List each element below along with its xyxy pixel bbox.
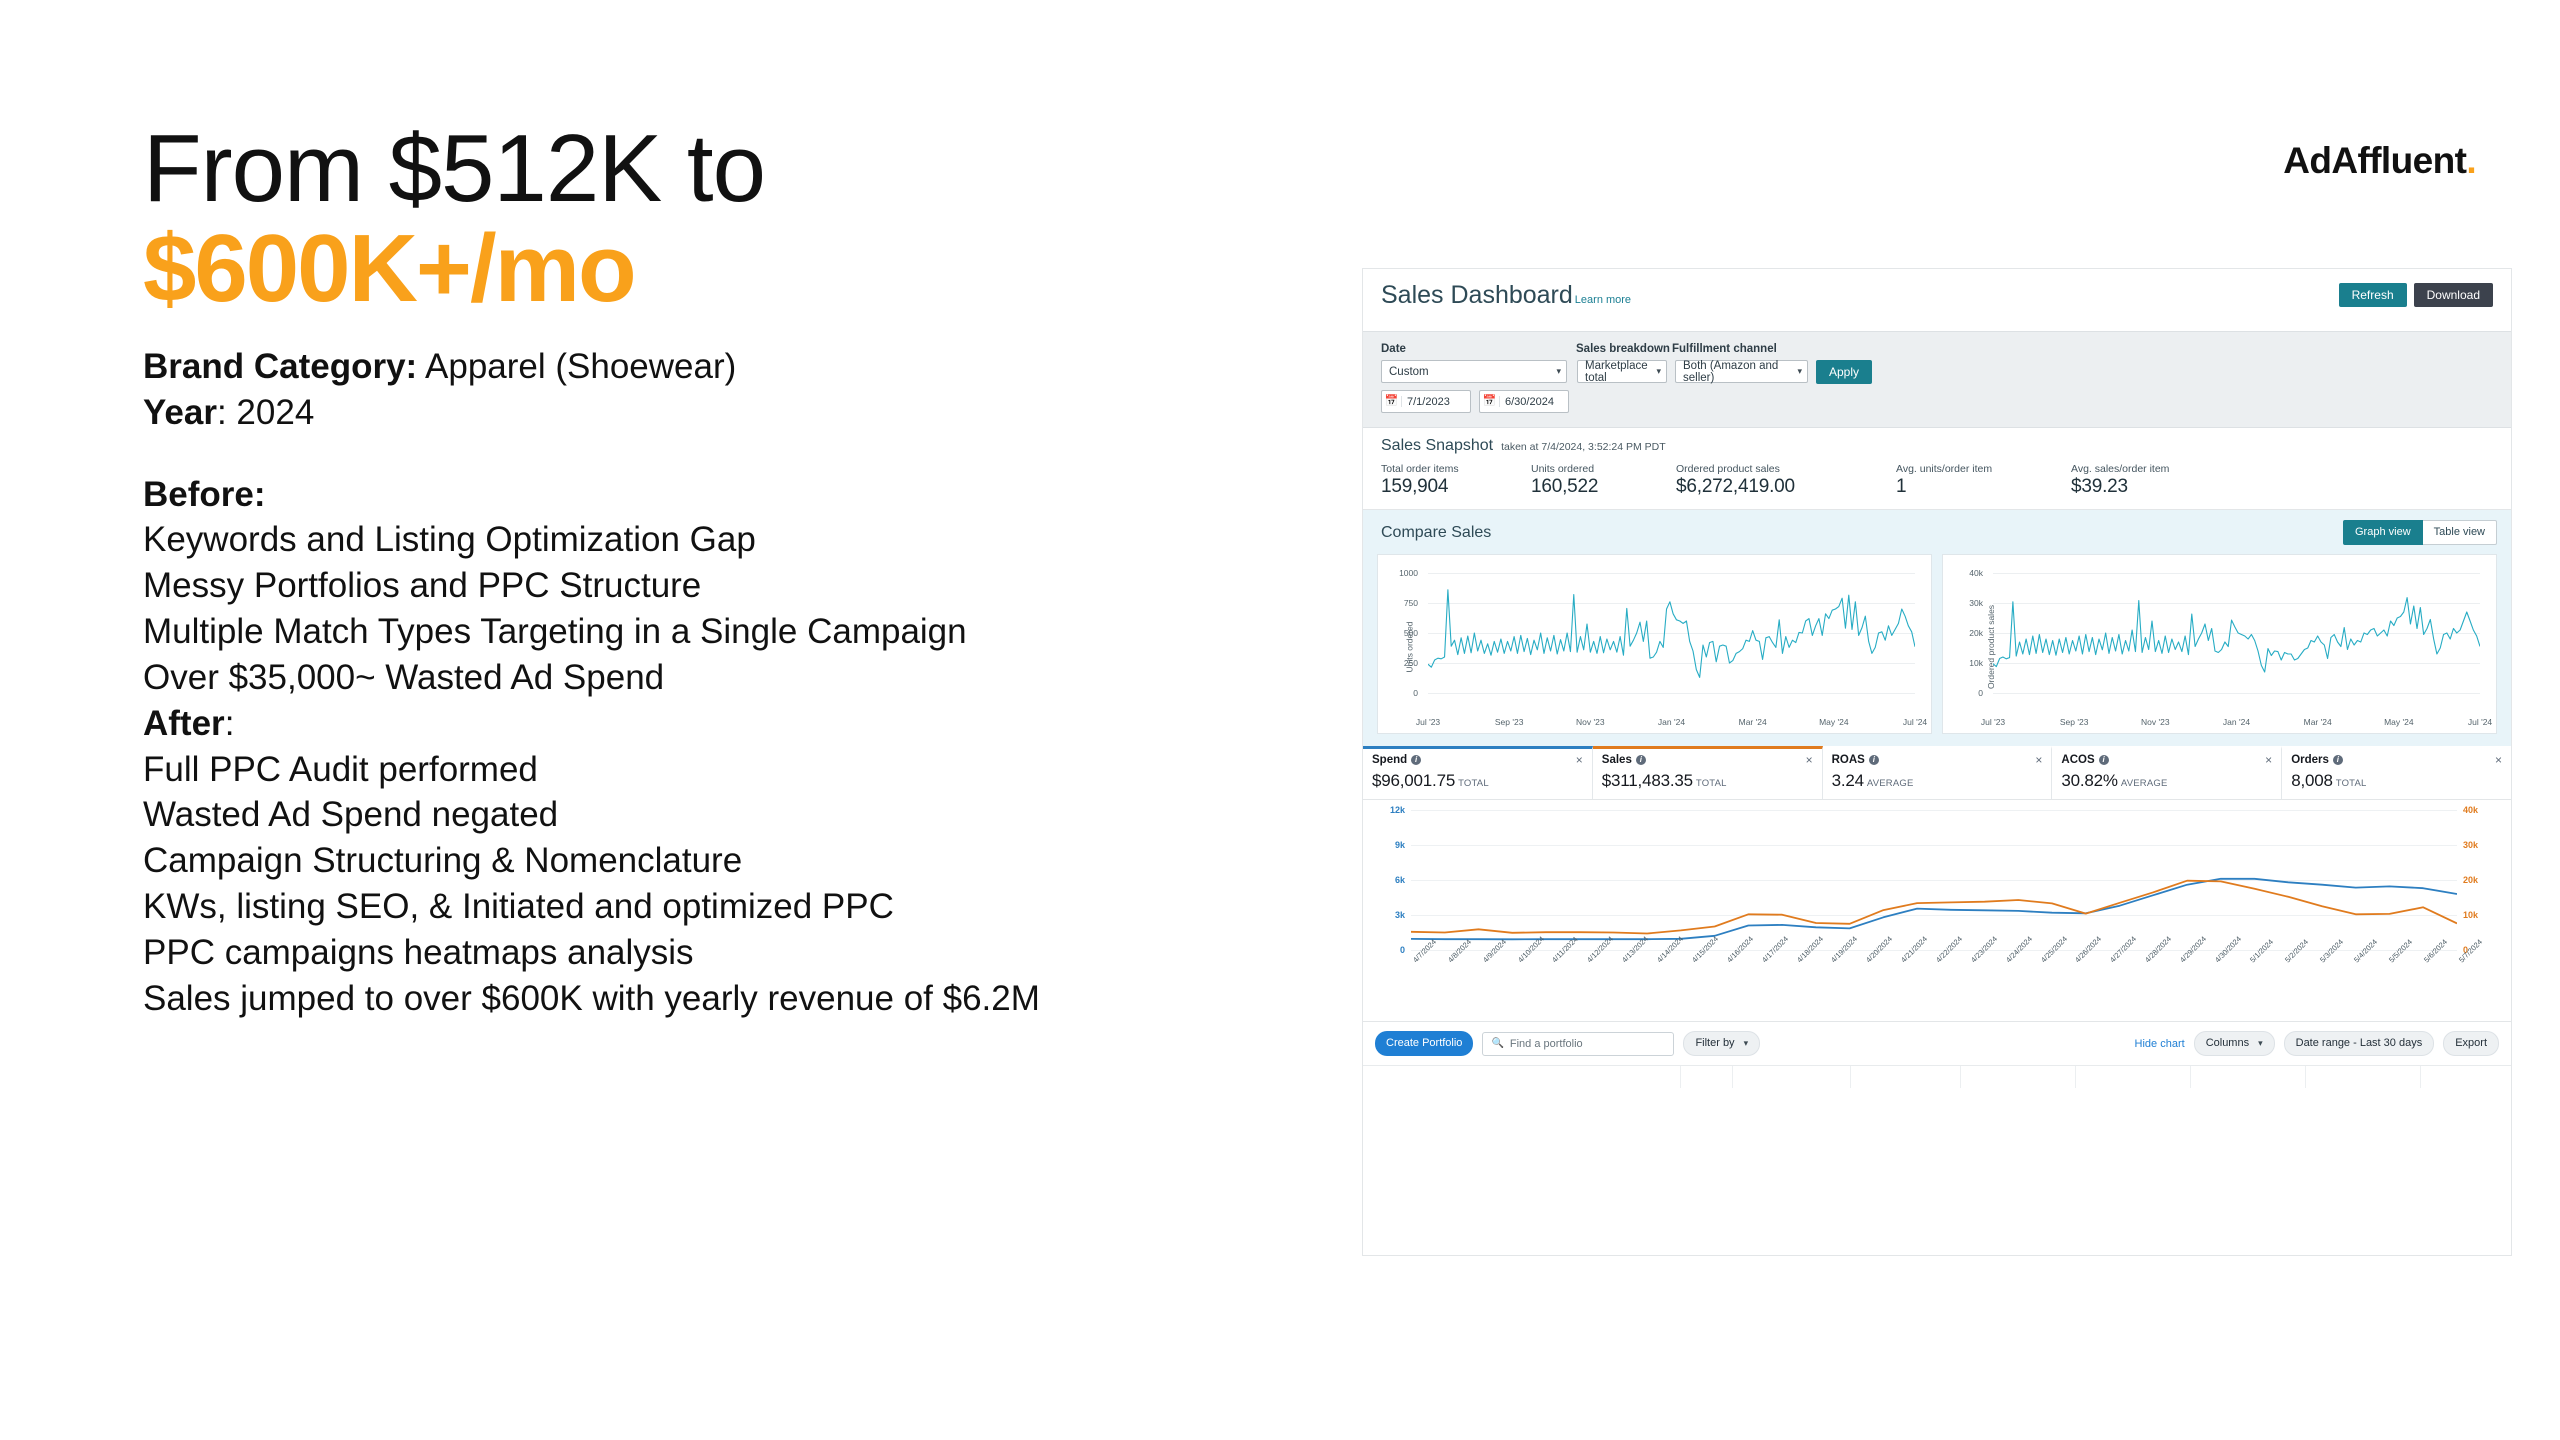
kpi-name-text: Orders <box>2291 754 2329 766</box>
date-range-inputs: 📅 7/1/2023 📅 6/30/2024 <box>1381 390 1569 413</box>
kpi-name-text: Sales <box>1602 754 1632 766</box>
after-item: KWs, listing SEO, & Initiated and optimi… <box>143 884 1353 930</box>
sales-dashboard-screenshot: Sales Dashboard Learn more Refresh Downl… <box>1362 268 2512 1256</box>
snapshot-metric-label: Ordered product sales <box>1676 463 1896 475</box>
before-item: Multiple Match Types Targeting in a Sing… <box>143 609 1353 655</box>
brand-category-label: Brand Category: <box>143 347 417 386</box>
kpi-name: ACOS i <box>2061 754 2108 766</box>
snapshot-metric-value: $6,272,419.00 <box>1676 476 1896 498</box>
compare-sales-section: Compare Sales Graph view Table view Unit… <box>1363 510 2511 746</box>
x-tick-label: Jul '24 <box>2468 717 2492 727</box>
year-value: : 2024 <box>217 393 314 432</box>
left-y-tick-label: 6k <box>1371 875 1405 885</box>
kpi-header: ACOS i × <box>2061 754 2272 766</box>
date-to-input[interactable]: 📅 6/30/2024 <box>1479 390 1569 413</box>
export-button[interactable]: Export <box>2443 1031 2499 1056</box>
learn-more-link[interactable]: Learn more <box>1575 295 1631 306</box>
toolbar-right-actions: Hide chart Columns ▾ Date range - Last 3… <box>2135 1031 2499 1056</box>
headline-line-1: From $512K to <box>143 120 1353 218</box>
snapshot-metric-label: Avg. sales/order item <box>2071 463 2241 475</box>
close-icon[interactable]: × <box>2035 754 2042 766</box>
after-item: Campaign Structuring & Nomenclature <box>143 838 1353 884</box>
hide-chart-link[interactable]: Hide chart <box>2135 1038 2185 1050</box>
chevron-down-icon: ▾ <box>1656 366 1661 377</box>
y-tick-label: 1000 <box>1394 568 1418 578</box>
chevron-down-icon: ▾ <box>1797 366 1802 377</box>
compare-sales-title: Compare Sales <box>1377 524 1491 542</box>
before-section-title: Before: <box>143 472 1353 518</box>
kpi-card-acos[interactable]: ACOS i × 30.82%AVERAGE <box>2052 746 2282 799</box>
view-tabs: Graph view Table view <box>2343 520 2497 545</box>
date-label: Date <box>1381 343 1576 355</box>
fulfillment-channel-value: Both (Amazon and seller) <box>1683 360 1793 384</box>
kpi-value: 8,008 <box>2291 771 2333 790</box>
kpi-name: ROAS i <box>1832 754 1879 766</box>
before-item: Keywords and Listing Optimization Gap <box>143 517 1353 563</box>
slide-content: From $512K to $600K+/mo Brand Category: … <box>143 120 1353 1022</box>
header-actions: Refresh Download <box>2339 283 2493 307</box>
snapshot-metric-label: Total order items <box>1381 463 1531 475</box>
x-tick-label: Jan '24 <box>1658 717 1685 727</box>
after-item: Full PPC Audit performed <box>143 747 1353 793</box>
y-tick-label: 30k <box>1959 598 1983 608</box>
filter-by-label: Filter by <box>1695 1037 1734 1050</box>
x-tick-label: Nov '23 <box>1576 717 1605 727</box>
kpi-name: Orders i <box>2291 754 2343 766</box>
kpi-value-row: 30.82%AVERAGE <box>2061 771 2272 791</box>
x-tick-label: Sep '23 <box>2060 717 2089 727</box>
info-icon[interactable]: i <box>1636 755 1646 765</box>
dashboard-title: Sales Dashboard Learn more <box>1381 283 1631 308</box>
dashboard-title-text: Sales Dashboard <box>1381 283 1573 308</box>
after-section-title: After: <box>143 701 1353 747</box>
snapshot-metric-value: 1 <box>1896 476 2071 498</box>
apply-button[interactable]: Apply <box>1816 360 1872 384</box>
date-to-value: 6/30/2024 <box>1500 396 1554 408</box>
units-ordered-line <box>1428 573 1915 693</box>
kpi-header: Orders i × <box>2291 754 2502 766</box>
portfolio-search-input[interactable]: 🔍 Find a portfolio <box>1482 1032 1674 1056</box>
year-row: Year: 2024 <box>143 390 1353 436</box>
kpi-value: $311,483.35 <box>1602 771 1693 790</box>
x-tick-label: Nov '23 <box>2141 717 2170 727</box>
calendar-icon: 📅 <box>1382 396 1402 407</box>
info-icon[interactable]: i <box>1411 755 1421 765</box>
left-y-tick-label: 3k <box>1371 910 1405 920</box>
columns-button[interactable]: Columns ▾ <box>2194 1031 2275 1056</box>
close-icon[interactable]: × <box>1576 754 1583 766</box>
left-y-tick-label: 12k <box>1371 805 1405 815</box>
kpi-name-text: ACOS <box>2061 754 2094 766</box>
ordered-product-sales-plot: Ordered product sales 010k20k30k40k Jul … <box>1951 565 2488 729</box>
x-tick-label: Sep '23 <box>1495 717 1524 727</box>
kpi-card-roas[interactable]: ROAS i × 3.24AVERAGE <box>1823 746 2053 799</box>
chart-ordered-product-sales: Ordered product sales 010k20k30k40k Jul … <box>1942 554 2497 734</box>
y-tick-label: 0 <box>1394 688 1418 698</box>
x-tick-label: Jan '24 <box>2223 717 2250 727</box>
portfolio-toolbar: Create Portfolio 🔍 Find a portfolio Filt… <box>1363 1022 2511 1066</box>
brand-category-value: Apparel (Shoewear) <box>417 347 736 386</box>
kpi-unit: TOTAL <box>2336 778 2367 789</box>
close-icon[interactable]: × <box>2265 754 2272 766</box>
y-tick-label: 500 <box>1394 628 1418 638</box>
kpi-unit: AVERAGE <box>1867 778 1914 789</box>
y-tick-label: 750 <box>1394 598 1418 608</box>
kpi-header: Sales i × <box>1602 754 1813 766</box>
brand-logo: AdAffluent. <box>2283 140 2476 182</box>
y-tick-label: 20k <box>1959 628 1983 638</box>
snapshot-metric-value: 159,904 <box>1381 476 1531 498</box>
sales-breakdown-select[interactable]: Marketplace total ▾ <box>1577 360 1667 383</box>
spacer <box>143 436 1353 472</box>
date-select[interactable]: Custom ▾ <box>1381 360 1567 383</box>
date-range-button[interactable]: Date range - Last 30 days <box>2284 1031 2435 1056</box>
chevron-down-icon: ▾ <box>2258 1038 2263 1049</box>
snapshot-metric: Avg. units/order item 1 <box>1896 463 2071 498</box>
sales-snapshot-metrics: Total order items 159,904 Units ordered … <box>1363 459 2511 510</box>
kpi-card-sales[interactable]: Sales i × $311,483.35TOTAL <box>1593 746 1823 799</box>
kpi-unit: TOTAL <box>1458 778 1489 789</box>
close-icon[interactable]: × <box>2495 754 2502 766</box>
x-tick-label: Mar '24 <box>2304 717 2332 727</box>
calendar-icon: 📅 <box>1480 396 1500 407</box>
left-y-tick-label: 9k <box>1371 840 1405 850</box>
info-icon[interactable]: i <box>1869 755 1879 765</box>
kpi-name: Sales i <box>1602 754 1646 766</box>
units-ordered-plot: Units ordered 02505007501000 Jul '23Sep … <box>1386 565 1923 729</box>
kpi-header: ROAS i × <box>1832 754 2043 766</box>
gridline <box>1428 693 1915 694</box>
snapshot-metric-label: Units ordered <box>1531 463 1676 475</box>
x-tick-label: May '24 <box>2384 717 2414 727</box>
info-icon[interactable]: i <box>2099 755 2109 765</box>
sales-breakdown-value: Marketplace total <box>1585 360 1652 384</box>
left-y-tick-label: 0 <box>1371 945 1405 955</box>
fulfillment-channel-label: Fulfillment channel <box>1672 343 1812 355</box>
sales-snapshot-title: Sales Snapshot <box>1381 437 1493 455</box>
fulfillment-channel-select[interactable]: Both (Amazon and seller) ▾ <box>1675 360 1808 383</box>
chevron-down-icon: ▾ <box>1556 366 1561 377</box>
snapshot-metric: Avg. sales/order item $39.23 <box>2071 463 2241 498</box>
year-label: Year <box>143 393 217 432</box>
compare-sales-header: Compare Sales Graph view Table view <box>1377 520 2497 545</box>
kpi-name-text: ROAS <box>1832 754 1865 766</box>
tab-graph-view[interactable]: Graph view <box>2343 520 2423 545</box>
after-item: Sales jumped to over $600K with yearly r… <box>143 976 1353 1022</box>
right-y-tick-label: 20k <box>2463 875 2503 885</box>
logo-text: AdAffluent <box>2283 140 2466 181</box>
refresh-button[interactable]: Refresh <box>2339 283 2407 307</box>
date-select-value: Custom <box>1389 366 1429 378</box>
y-tick-label: 10k <box>1959 658 1983 668</box>
after-item: PPC campaigns heatmaps analysis <box>143 930 1353 976</box>
columns-label: Columns <box>2206 1037 2249 1050</box>
kpi-value: $96,001.75 <box>1372 771 1455 790</box>
x-tick-label: Jul '23 <box>1981 717 2005 727</box>
kpi-value-row: $96,001.75TOTAL <box>1372 771 1583 791</box>
tab-table-view[interactable]: Table view <box>2423 520 2497 545</box>
chart-spend-vs-sales: 03k6k9k12k 010k20k30k40k 4/7/20244/8/202… <box>1363 800 2511 1022</box>
after-item: Wasted Ad Spend negated <box>143 792 1353 838</box>
snapshot-metric: Ordered product sales $6,272,419.00 <box>1676 463 1896 498</box>
page-title: From $512K to $600K+/mo <box>143 120 1353 318</box>
sales-snapshot-timestamp: taken at 7/4/2024, 3:52:24 PM PDT <box>1501 441 1666 453</box>
portfolio-search-placeholder: Find a portfolio <box>1510 1038 1583 1050</box>
brand-meta: Brand Category: Apparel (Shoewear) Year:… <box>143 344 1353 436</box>
before-item: Over $35,000~ Wasted Ad Spend <box>143 655 1353 701</box>
snapshot-metric-value: 160,522 <box>1531 476 1676 498</box>
after-colon: : <box>225 704 235 743</box>
headline-line-2: $600K+/mo <box>143 220 1353 318</box>
date-from-value: 7/1/2023 <box>1402 396 1450 408</box>
filter-controls: Custom ▾ 📅 7/1/2023 📅 6/30/2024 Marketpl… <box>1381 360 2493 413</box>
ordered-product-sales-line <box>1993 573 2480 693</box>
kpi-unit: TOTAL <box>1696 778 1727 789</box>
right-y-tick-label: 40k <box>2463 805 2503 815</box>
search-icon: 🔍 <box>1491 1038 1503 1049</box>
y-tick-label: 40k <box>1959 568 1983 578</box>
create-portfolio-button[interactable]: Create Portfolio <box>1375 1031 1473 1056</box>
sales-breakdown-label: Sales breakdown <box>1576 343 1672 355</box>
kpi-unit: AVERAGE <box>2121 778 2168 789</box>
x-tick-label: May '24 <box>1819 717 1849 727</box>
kpi-header: Spend i × <box>1372 754 1583 766</box>
chart-units-ordered: Units ordered 02505007501000 Jul '23Sep … <box>1377 554 1932 734</box>
filter-bar: Date Sales breakdown Fulfillment channel… <box>1363 331 2511 428</box>
y-tick-label: 250 <box>1394 658 1418 668</box>
gridline <box>1993 693 2480 694</box>
kpi-value-row: $311,483.35TOTAL <box>1602 771 1813 791</box>
kpi-card-orders[interactable]: Orders i × 8,008TOTAL <box>2282 746 2511 799</box>
x-tick-label: Jul '23 <box>1416 717 1440 727</box>
kpi-name-text: Spend <box>1372 754 1407 766</box>
after-label: After <box>143 704 225 743</box>
kpi-row: Spend i × $96,001.75TOTAL Sales i × $311… <box>1363 746 2511 800</box>
y-tick-label: 0 <box>1959 688 1983 698</box>
snapshot-metric: Units ordered 160,522 <box>1531 463 1676 498</box>
info-icon[interactable]: i <box>2333 755 2343 765</box>
portfolio-table-stub <box>1363 1066 2511 1100</box>
x-tick-label: Mar '24 <box>1739 717 1767 727</box>
sales-snapshot-header: Sales Snapshot taken at 7/4/2024, 3:52:2… <box>1363 428 2511 459</box>
dashboard-header: Sales Dashboard Learn more Refresh Downl… <box>1363 269 2511 331</box>
close-icon[interactable]: × <box>1806 754 1813 766</box>
kpi-value: 3.24 <box>1832 771 1864 790</box>
kpi-value-row: 3.24AVERAGE <box>1832 771 2043 791</box>
kpi-value-row: 8,008TOTAL <box>2291 771 2502 791</box>
kpi-name: Spend i <box>1372 754 1421 766</box>
x-tick-label: Jul '24 <box>1903 717 1927 727</box>
kpi-card-spend[interactable]: Spend i × $96,001.75TOTAL <box>1363 746 1593 799</box>
snapshot-metric-label: Avg. units/order item <box>1896 463 2071 475</box>
spend-sales-lines <box>1411 810 2457 950</box>
download-button[interactable]: Download <box>2414 283 2493 307</box>
chevron-down-icon: ▾ <box>1744 1038 1749 1049</box>
right-y-tick-label: 10k <box>2463 910 2503 920</box>
before-item: Messy Portfolios and PPC Structure <box>143 563 1353 609</box>
filter-labels: Date Sales breakdown Fulfillment channel <box>1381 343 2493 355</box>
logo-dot: . <box>2466 140 2476 181</box>
kpi-value: 30.82% <box>2061 771 2117 790</box>
right-y-tick-label: 30k <box>2463 840 2503 850</box>
filter-by-button[interactable]: Filter by ▾ <box>1683 1031 1760 1056</box>
snapshot-metric-value: $39.23 <box>2071 476 2241 498</box>
snapshot-metric: Total order items 159,904 <box>1381 463 1531 498</box>
brand-category-row: Brand Category: Apparel (Shoewear) <box>143 344 1353 390</box>
compare-charts: Units ordered 02505007501000 Jul '23Sep … <box>1377 554 2497 734</box>
date-from-input[interactable]: 📅 7/1/2023 <box>1381 390 1471 413</box>
